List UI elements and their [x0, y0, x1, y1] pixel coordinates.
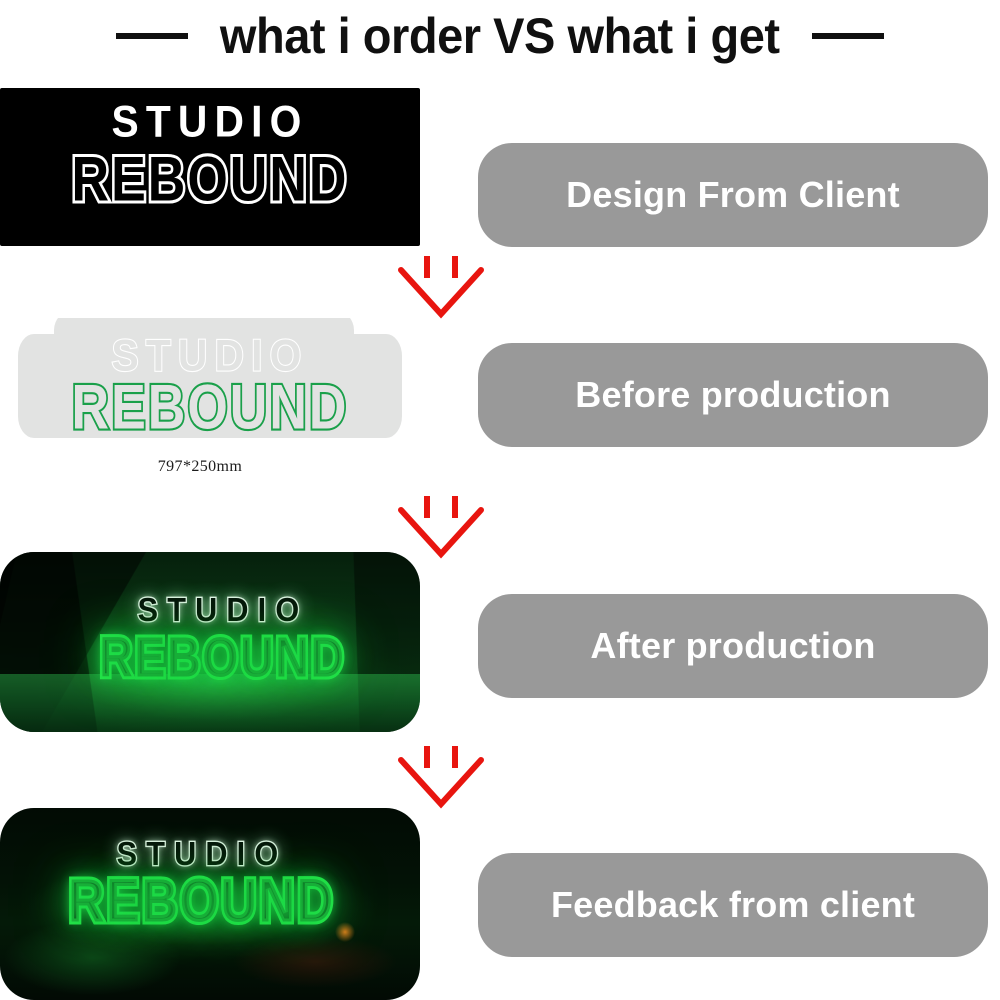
step-row-4: STUDIO REBOUND Feedback from client [0, 808, 1000, 1000]
step-4-label-pill[interactable]: Feedback from client [478, 853, 988, 957]
logo-lockup: STUDIO REBOUND [33, 596, 413, 680]
logo-lockup: STUDIO REBOUND [20, 102, 400, 206]
header-rule-right-icon [812, 33, 884, 39]
logo-rebound-text: REBOUND [20, 376, 400, 439]
step-4-media-lit-neon-photo-client: STUDIO REBOUND [0, 808, 420, 1000]
sign-dimensions-caption: 797*250mm [0, 458, 400, 476]
logo-rebound-text: REBOUND [12, 871, 392, 932]
logo-lockup: STUDIO REBOUND [20, 336, 400, 434]
step-3-media-lit-neon-photo-wall: STUDIO REBOUND [0, 552, 420, 732]
step-1-media-black-logo-plate: STUDIO REBOUND [0, 88, 420, 246]
step-3-label-text: After production [590, 628, 875, 664]
logo-rebound-text: REBOUND [33, 629, 413, 685]
step-1-label-text: Design From Client [566, 177, 900, 213]
down-chevron-arrow-icon [395, 742, 487, 812]
logo-lockup: STUDIO REBOUND [12, 840, 392, 926]
down-chevron-arrow-icon [395, 252, 487, 322]
step-2-label-pill[interactable]: Before production [478, 343, 988, 447]
logo-rebound-text: REBOUND [20, 148, 400, 211]
logo-studio-text: STUDIO [29, 594, 417, 628]
step-3-label-pill[interactable]: After production [478, 594, 988, 698]
step-2-label-text: Before production [575, 377, 890, 413]
step-row-3: STUDIO REBOUND After production [0, 552, 1000, 732]
header-rule-left-icon [116, 33, 188, 39]
page-title: what i order VS what i get [220, 11, 780, 61]
logo-studio-text: STUDIO [16, 100, 404, 145]
step-2-media-unlit-acrylic-sign: STUDIO REBOUND [0, 318, 420, 448]
step-row-1: STUDIO REBOUND Design From Client [0, 88, 1000, 248]
step-row-2: STUDIO REBOUND 797*250mm Before producti… [0, 318, 1000, 483]
step-1-label-pill[interactable]: Design From Client [478, 143, 988, 247]
step-4-label-text: Feedback from client [551, 887, 915, 923]
page-header: what i order VS what i get [0, 0, 1000, 72]
